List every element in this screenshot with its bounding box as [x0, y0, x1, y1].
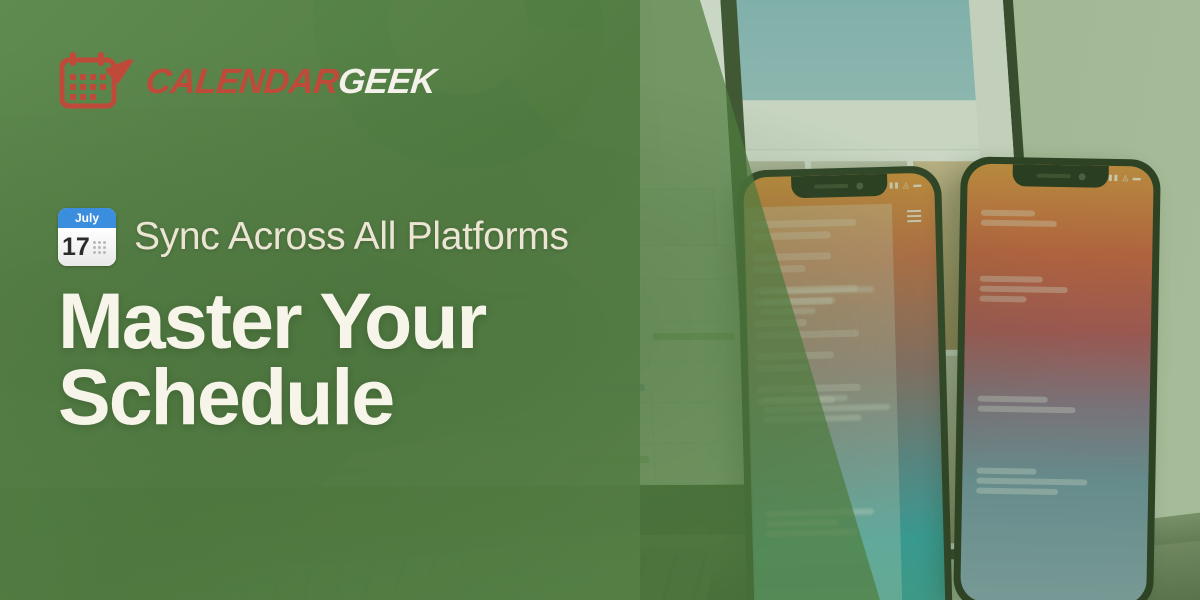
brand-name-part2: GEEK — [336, 62, 437, 101]
brand-logo[interactable]: CALENDARGEEK — [58, 50, 436, 112]
headline-line-2: Schedule — [58, 359, 698, 435]
brand-wordmark: CALENDARGEEK — [144, 64, 437, 99]
calendar-icon-day: 17 — [62, 235, 90, 260]
hero-eyebrow: July 17 Sync Across All Platforms — [58, 208, 569, 266]
hero-banner: ▮▮ ◬ ▬ — [0, 0, 1200, 600]
calendar-date-icon: July 17 — [58, 208, 116, 266]
calendar-icon-month: July — [58, 208, 116, 228]
calendar-icon-dots — [93, 241, 106, 254]
hero-eyebrow-text: Sync Across All Platforms — [134, 215, 569, 259]
hero-content: CALENDARGEEK July 17 Sync Across All Pla… — [0, 0, 1200, 600]
brand-name-part1: CALENDAR — [144, 62, 340, 101]
page-title: Master Your Schedule — [58, 283, 698, 435]
calendar-pencil-icon — [58, 50, 136, 112]
